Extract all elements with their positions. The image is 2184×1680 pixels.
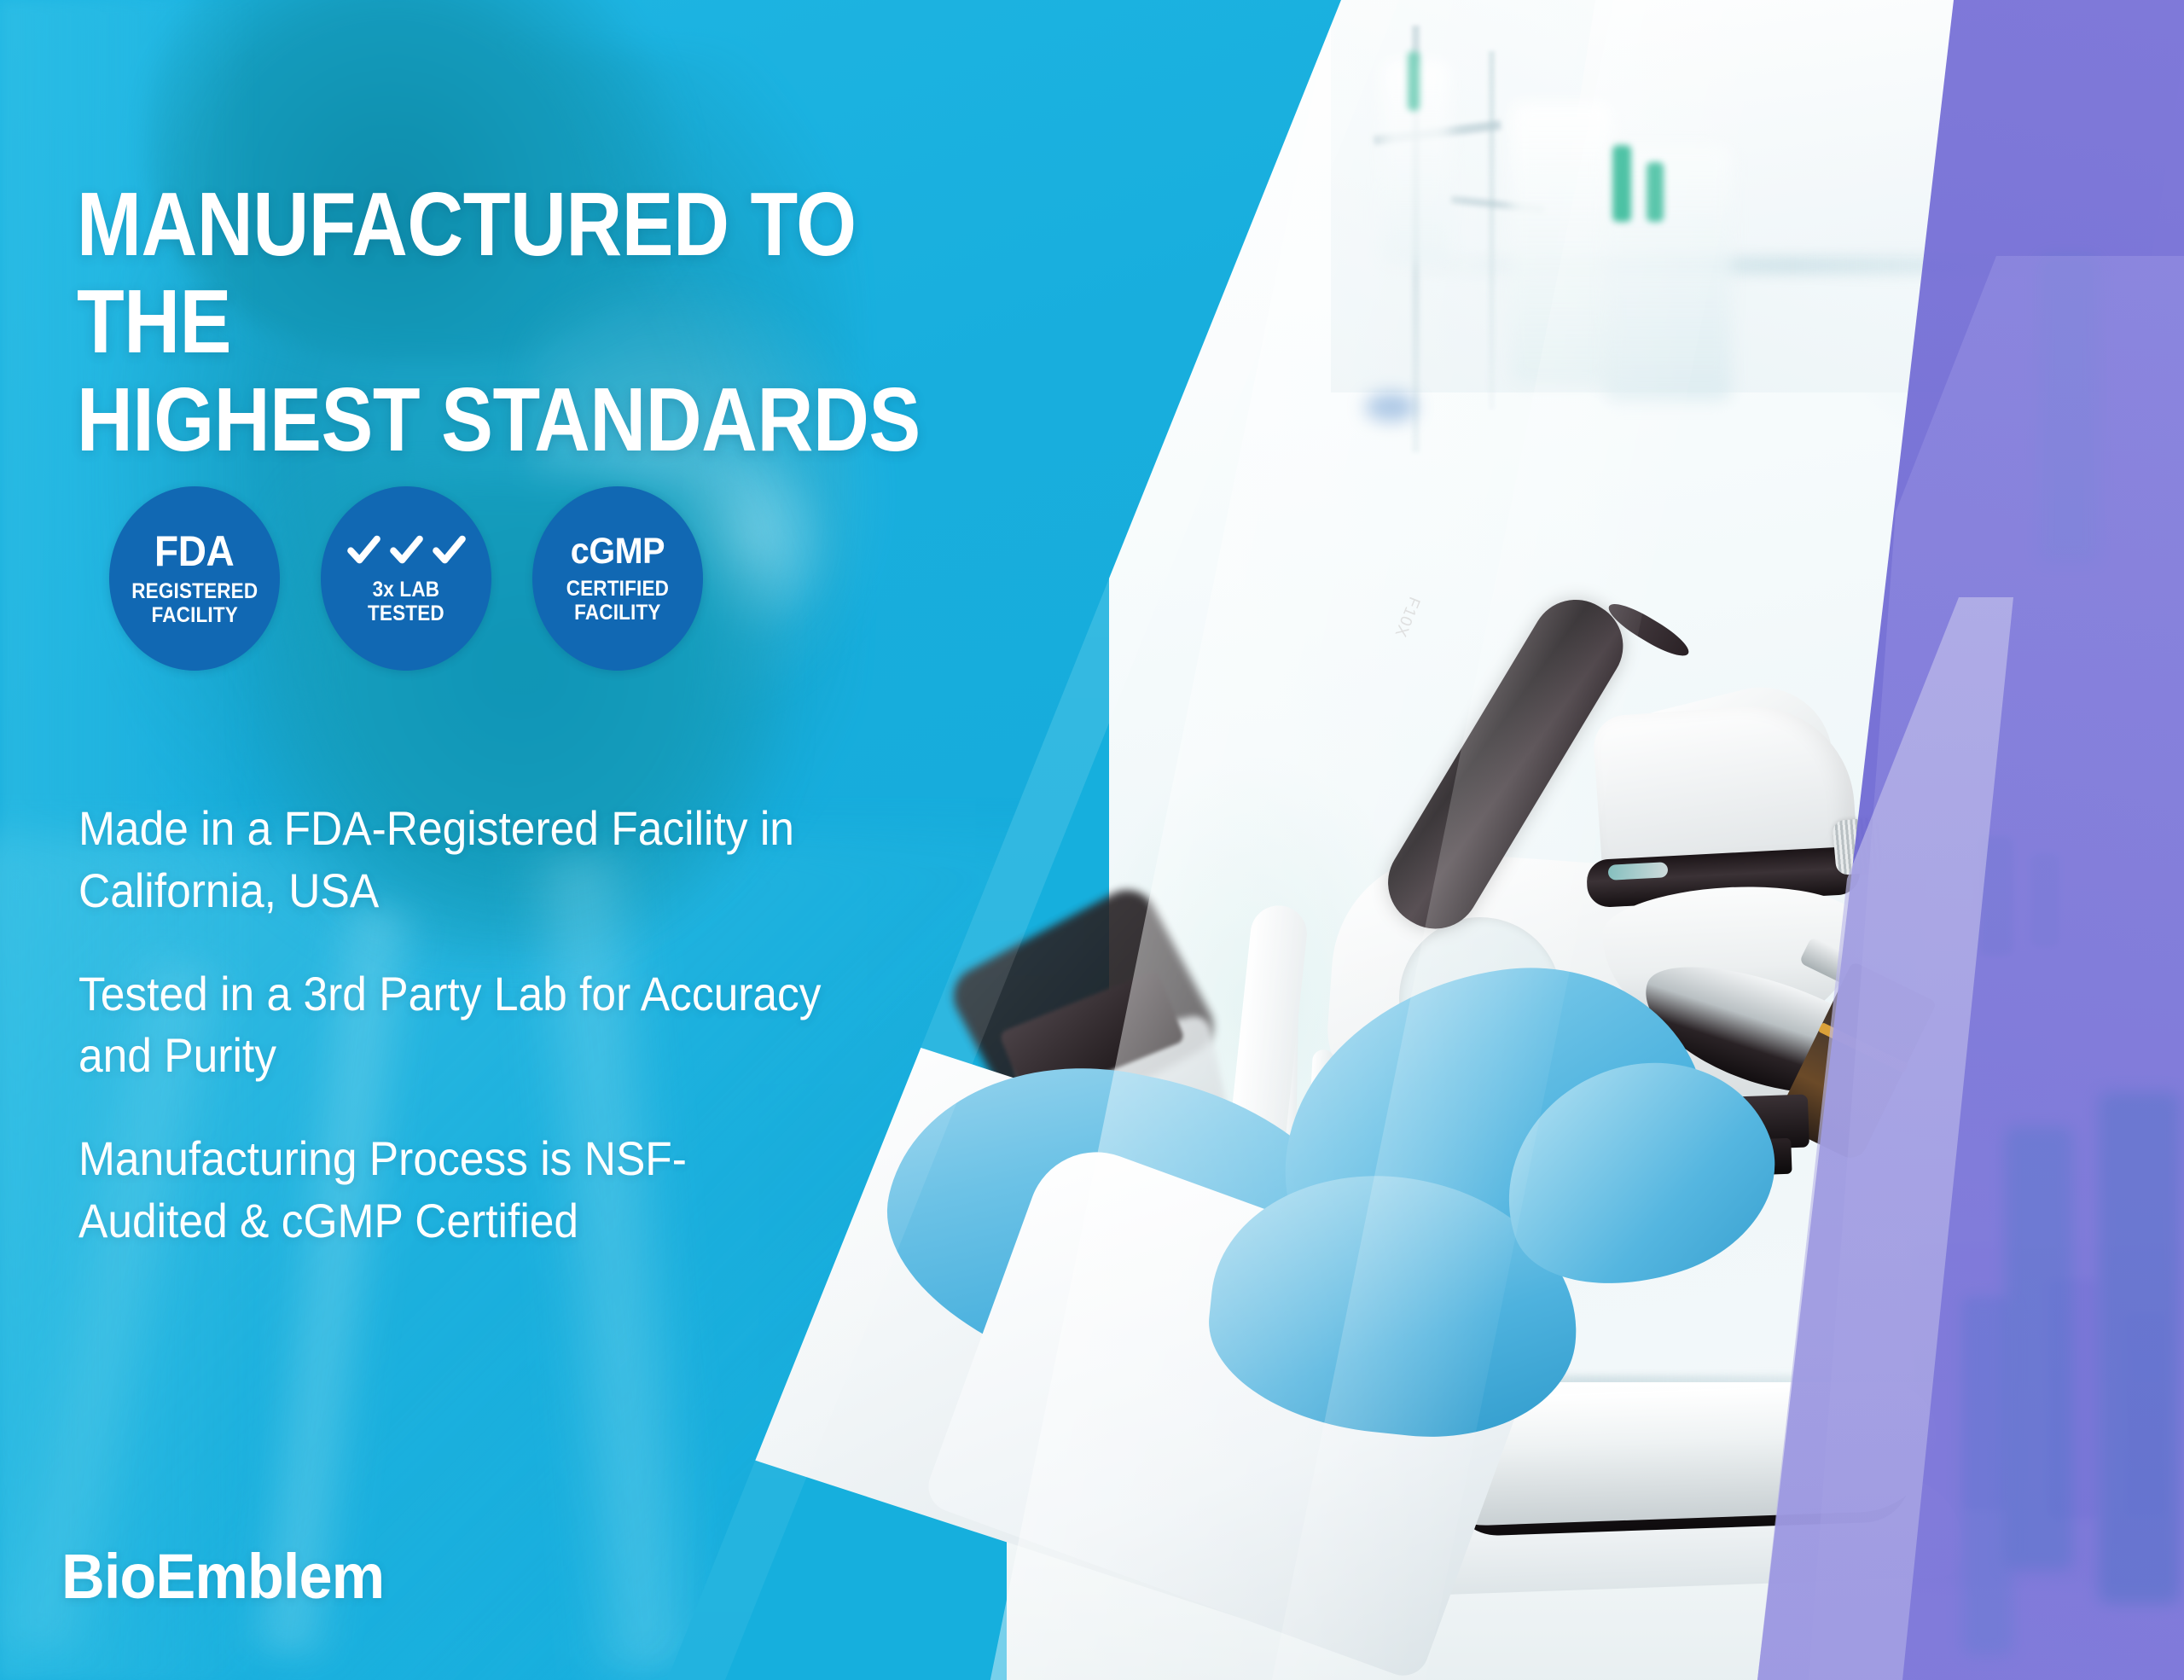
checkmark-icon (389, 532, 424, 567)
feature-list: Made in a FDA-Registered Facility in Cal… (78, 798, 824, 1253)
badge-subtitle: CERTIFIED FACILITY (566, 577, 669, 625)
badge-subtitle: REGISTERED FACILITY (131, 579, 258, 627)
trust-badges: FDA REGISTERED FACILITY 3x LAB TESTED cG… (109, 486, 703, 671)
badge-title: cGMP (571, 533, 665, 570)
feature-item-1: Made in a FDA-Registered Facility in Cal… (78, 798, 824, 922)
headline-line-2: HIGHEST STANDARDS (77, 371, 1002, 468)
feature-item-2: Tested in a 3rd Party Lab for Accuracy a… (78, 963, 824, 1088)
brand-logo: BioEmblem (61, 1540, 384, 1613)
microscope-nosepiece-highlight (1608, 862, 1669, 881)
objective-magnification-label: F10X (1390, 594, 1423, 640)
badge-cgmp-certified-facility: cGMP CERTIFIED FACILITY (532, 486, 703, 671)
badge-subtitle: 3x LAB TESTED (368, 578, 444, 625)
badge-subtitle-line-2: FACILITY (566, 601, 669, 625)
badge-3x-lab-tested: 3x LAB TESTED (321, 486, 491, 671)
badge-fda-registered-facility: FDA REGISTERED FACILITY (109, 486, 280, 671)
checkmark-icon (346, 532, 381, 567)
badge-subtitle-line-1: 3x LAB (368, 578, 444, 602)
badge-subtitle-line-2: FACILITY (131, 603, 258, 627)
badge-title: FDA (154, 530, 234, 573)
page-title: MANUFACTURED TO THE HIGHEST STANDARDS (77, 176, 1002, 468)
badge-subtitle-line-1: CERTIFIED (566, 577, 669, 601)
badge-subtitle-line-2: TESTED (368, 602, 444, 625)
promo-banner: F10X (0, 0, 2184, 1680)
headline-line-1: MANUFACTURED TO THE (77, 174, 857, 372)
checkmark-icon (432, 532, 467, 567)
triple-checkmark-icon (346, 532, 467, 567)
badge-subtitle-line-1: REGISTERED (131, 579, 258, 603)
feature-item-3: Manufacturing Process is NSF-Audited & c… (78, 1128, 824, 1253)
